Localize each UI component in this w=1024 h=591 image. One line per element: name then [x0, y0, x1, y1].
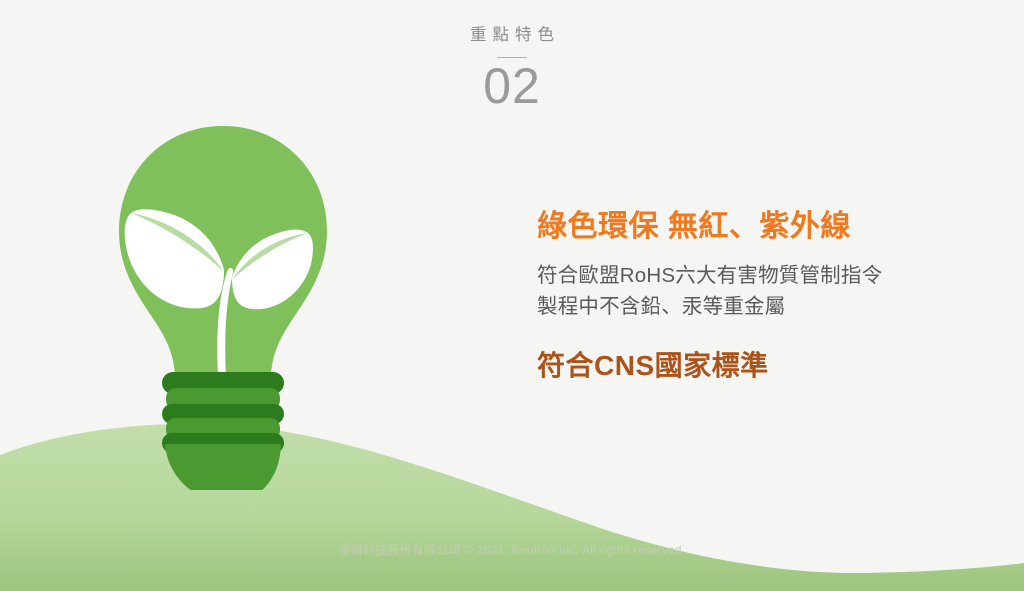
feature-body: 符合歐盟RoHS六大有害物質管制指令 製程中不含鉛、汞等重金屬 [537, 260, 977, 324]
feature-body-line-1: 符合歐盟RoHS六大有害物質管制指令 [537, 260, 977, 292]
section-number: 02 [0, 60, 1024, 113]
feature-subheadline: 符合CNS國家標準 [537, 349, 977, 383]
feature-headline: 綠色環保 無紅、紫外線 [537, 208, 977, 246]
section-header: 重點特色 02 [0, 26, 1024, 112]
footer-copyright: 凌瞬科技股份有限公司 © 2021, Neutron Inc. All righ… [0, 541, 1024, 558]
feature-body-line-2: 製程中不含鉛、汞等重金屬 [537, 291, 977, 323]
feature-content-block: 綠色環保 無紅、紫外線 符合歐盟RoHS六大有害物質管制指令 製程中不含鉛、汞等… [537, 208, 977, 383]
bulb-base-cup [165, 444, 281, 490]
green-lightbulb-sprout-icon [108, 120, 338, 490]
section-kicker: 重點特色 [0, 26, 1024, 46]
slide-canvas: 重點特色 02 綠色環保 無紅、紫外線 符合歐盟RoHS六大有害物質管制指令 [0, 0, 1024, 591]
